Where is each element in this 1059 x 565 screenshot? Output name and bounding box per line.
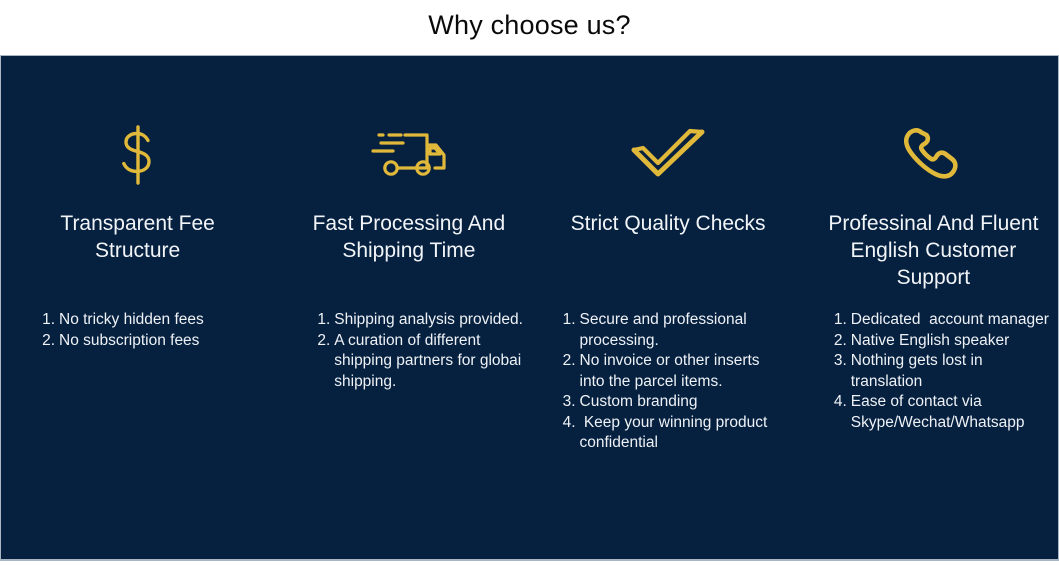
feature-heading: Transparent Fee Structure — [17, 210, 258, 294]
list-item: Ease of contact via Skype/Wechat/Whatsap… — [827, 392, 1054, 433]
list-item: Shipping analysis provided. — [310, 310, 529, 331]
list-item: Native English speaker — [827, 331, 1054, 352]
features-columns: Transparent Fee Structure No tricky hidd… — [1, 56, 1058, 559]
feature-list: Shipping analysis provided. A curation o… — [310, 310, 529, 392]
feature-column-transparent-fee: Transparent Fee Structure No tricky hidd… — [1, 56, 274, 559]
feature-column-fast-processing: Fast Processing And Shipping Time Shippi… — [274, 56, 539, 559]
list-item: Nothing gets lost in translation — [827, 351, 1054, 392]
dollar-sign-icon — [17, 124, 258, 186]
features-panel: Transparent Fee Structure No tricky hidd… — [0, 55, 1059, 561]
feature-list: Dedicated account manager Native English… — [827, 310, 1054, 433]
list-item: Keep your winning product confidential — [556, 413, 789, 454]
page-header: Why choose us? — [0, 0, 1059, 55]
feature-column-quality-checks: Strict Quality Checks Secure and profess… — [540, 56, 797, 559]
checkmark-icon — [548, 124, 789, 186]
feature-column-customer-support: Professinal And Fluent English Customer … — [797, 56, 1058, 559]
list-item: A curation of different shipping partner… — [310, 331, 529, 393]
feature-heading: Fast Processing And Shipping Time — [288, 210, 529, 294]
phone-handset-icon — [813, 124, 1054, 186]
page-title: Why choose us? — [428, 12, 630, 43]
feature-heading: Professinal And Fluent English Customer … — [813, 210, 1054, 294]
list-item: No subscription fees — [35, 331, 258, 352]
why-choose-us-page: Why choose us? Transparent Fee Structure… — [0, 0, 1059, 565]
list-item: No tricky hidden fees — [35, 310, 258, 331]
feature-list: No tricky hidden fees No subscription fe… — [35, 310, 258, 351]
list-item: No invoice or other inserts into the par… — [556, 351, 789, 392]
list-item: Dedicated account manager — [827, 310, 1054, 331]
feature-heading: Strict Quality Checks — [548, 210, 789, 294]
list-item: Custom branding — [556, 392, 789, 413]
delivery-truck-icon — [288, 124, 529, 186]
list-item: Secure and professional processing. — [556, 310, 789, 351]
feature-list: Secure and professional processing. No i… — [556, 310, 789, 454]
